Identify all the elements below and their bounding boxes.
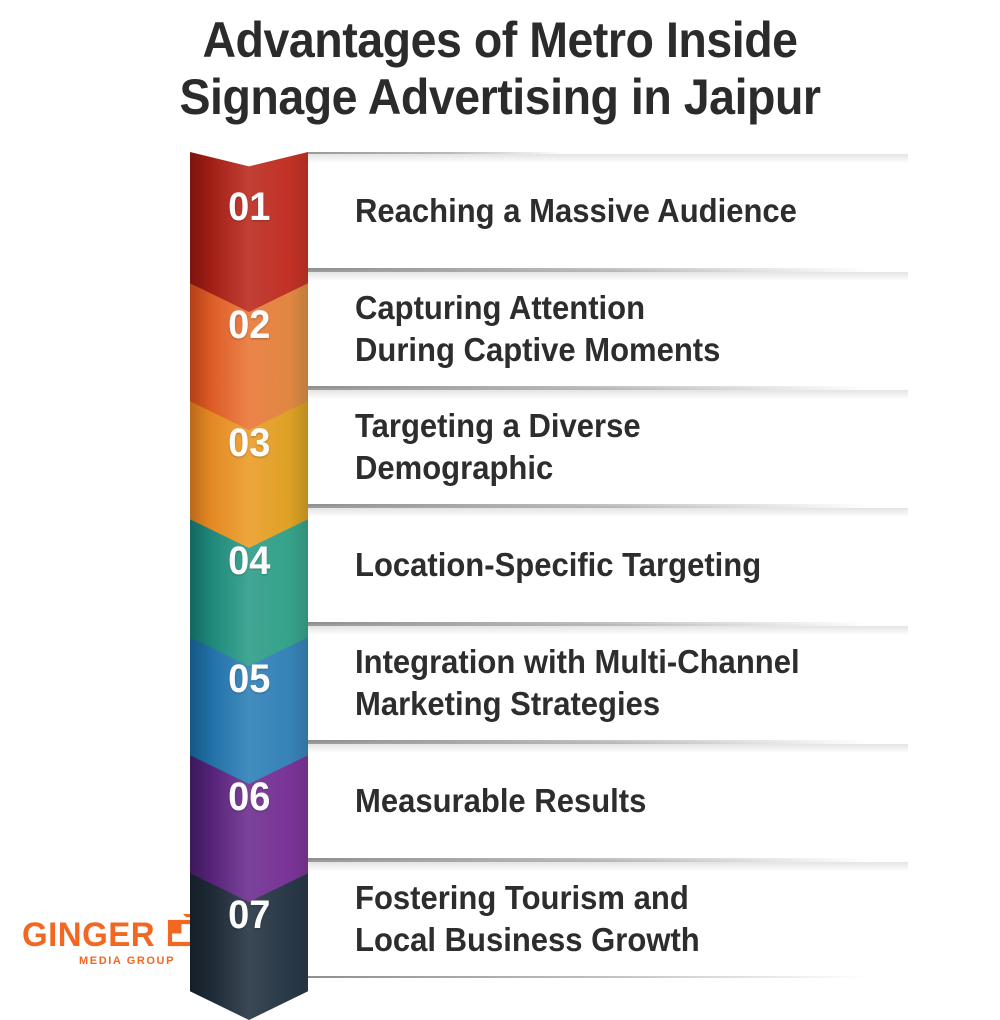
page-title: Advantages of Metro Inside Signage Adver…: [0, 12, 1000, 126]
advantage-label: Measurable Results: [308, 780, 646, 822]
advantage-row[interactable]: 03Targeting a Diverse Demographic: [0, 388, 1000, 506]
advantage-row[interactable]: 02Capturing Attention During Captive Mom…: [0, 270, 1000, 388]
card-top-shadow: [308, 272, 908, 281]
advantage-label: Integration with Multi-Channel Marketing…: [308, 641, 800, 725]
advantage-row[interactable]: 04Location-Specific Targeting: [0, 506, 1000, 624]
step-number: 01: [228, 185, 270, 230]
advantage-card[interactable]: Reaching a Massive Audience: [308, 152, 968, 270]
card-top-shadow: [308, 390, 908, 399]
card-top-edge: [308, 506, 868, 508]
advantage-card[interactable]: Fostering Tourism and Local Business Gro…: [308, 860, 968, 978]
advantage-card[interactable]: Integration with Multi-Channel Marketing…: [308, 624, 968, 742]
card-top-edge: [308, 860, 868, 862]
advantage-card[interactable]: Capturing Attention During Captive Momen…: [308, 270, 968, 388]
advantage-row[interactable]: 07Fostering Tourism and Local Business G…: [0, 860, 1000, 978]
card-top-shadow: [308, 626, 908, 635]
advantage-label: Fostering Tourism and Local Business Gro…: [308, 877, 700, 961]
card-top-edge: [308, 152, 564, 154]
step-number-band: 01: [190, 152, 308, 312]
card-bottom-edge: [308, 504, 868, 506]
advantage-label: Targeting a Diverse Demographic: [308, 405, 641, 489]
card-top-shadow: [308, 862, 908, 871]
advantage-row[interactable]: 05Integration with Multi-Channel Marketi…: [0, 624, 1000, 742]
card-top-edge: [308, 388, 868, 390]
card-top-shadow: [308, 508, 908, 517]
card-bottom-edge: [308, 858, 868, 860]
card-bottom-edge: [308, 386, 868, 388]
card-top-edge: [308, 742, 868, 744]
advantage-card[interactable]: Location-Specific Targeting: [308, 506, 968, 624]
card-bottom-edge: [308, 740, 868, 742]
page-title-line-1: Advantages of Metro Inside: [35, 12, 965, 69]
advantages-list: 01Reaching a Massive Audience02Capturing…: [0, 152, 1000, 997]
card-bottom-edge: [308, 622, 868, 624]
advantage-row[interactable]: 06Measurable Results: [0, 742, 1000, 860]
card-top-shadow: [308, 154, 908, 163]
advantage-card[interactable]: Targeting a Diverse Demographic: [308, 388, 968, 506]
advantage-card[interactable]: Measurable Results: [308, 742, 968, 860]
page-title-line-2: Signage Advertising in Jaipur: [35, 69, 965, 126]
band-gloss: [190, 152, 308, 312]
card-top-edge: [308, 270, 868, 272]
advantage-label: Location-Specific Targeting: [308, 544, 761, 586]
card-bottom-edge: [308, 976, 868, 978]
card-bottom-edge: [308, 268, 868, 270]
advantage-row[interactable]: 01Reaching a Massive Audience: [0, 152, 1000, 270]
advantage-label: Reaching a Massive Audience: [308, 190, 797, 232]
card-top-shadow: [308, 744, 908, 753]
card-top-edge: [308, 624, 868, 626]
advantage-label: Capturing Attention During Captive Momen…: [308, 287, 720, 371]
